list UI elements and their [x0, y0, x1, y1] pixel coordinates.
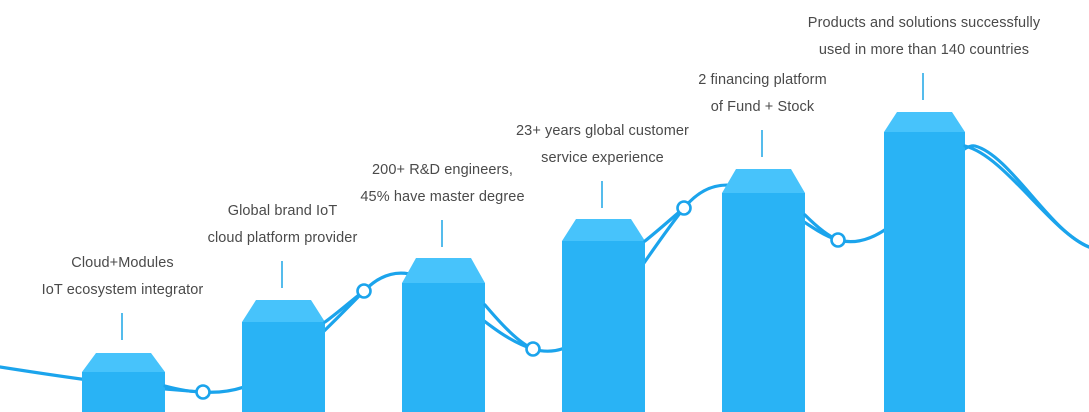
- bar-3-top-face: [402, 258, 485, 283]
- bar-6: [884, 112, 965, 412]
- trend-line-segment-bar6-exit: [965, 146, 1089, 247]
- bar-2-front-face: [242, 322, 325, 412]
- bar-label-2-line2: cloud platform provider: [160, 225, 405, 252]
- bar-1-top-face: [82, 353, 165, 372]
- infographic-bar-chart: Cloud+Modules IoT ecosystem integrator G…: [0, 0, 1089, 412]
- bar-label-4-line1: 23+ years global customer: [480, 118, 725, 145]
- bar-2-top-face: [242, 300, 325, 322]
- bar-label-4: 23+ years global customer service experi…: [480, 118, 725, 172]
- bar-label-3-line2: 45% have master degree: [320, 184, 565, 211]
- bar-6-top-face: [884, 112, 965, 132]
- bar-5-top-face: [722, 169, 805, 193]
- bar-4: [562, 219, 645, 412]
- trend-marker-5[interactable]: [832, 234, 845, 247]
- bar-3: [402, 258, 485, 412]
- trend-marker-2[interactable]: [358, 285, 371, 298]
- bar-4-top-face: [562, 219, 645, 241]
- bar-4-front-face: [562, 241, 645, 412]
- bar-1: [82, 353, 165, 412]
- bar-label-1-line1: Cloud+Modules: [0, 250, 245, 277]
- bar-3-front-face: [402, 283, 485, 412]
- trend-marker-4[interactable]: [678, 202, 691, 215]
- trend-marker-3[interactable]: [527, 343, 540, 356]
- bar-label-5-line2: of Fund + Stock: [640, 94, 885, 121]
- bar-5: [722, 169, 805, 412]
- bar-label-4-line2: service experience: [480, 145, 725, 172]
- bar-label-5-line1: 2 financing platform: [640, 67, 885, 94]
- trend-marker-1[interactable]: [197, 386, 210, 399]
- bar-label-5: 2 financing platform of Fund + Stock: [640, 67, 885, 121]
- bar-label-1: Cloud+Modules IoT ecosystem integrator: [0, 250, 245, 304]
- bar-6-front-face: [884, 132, 965, 412]
- bar-5-front-face: [722, 193, 805, 412]
- bar-label-1-line2: IoT ecosystem integrator: [0, 277, 245, 304]
- bar-label-6-line2: used in more than 140 countries: [789, 37, 1059, 64]
- bar-1-front-face: [82, 372, 165, 412]
- bar-label-6: Products and solutions successfully used…: [789, 10, 1059, 64]
- bar-2: [242, 300, 325, 412]
- bar-label-6-line1: Products and solutions successfully: [789, 10, 1059, 37]
